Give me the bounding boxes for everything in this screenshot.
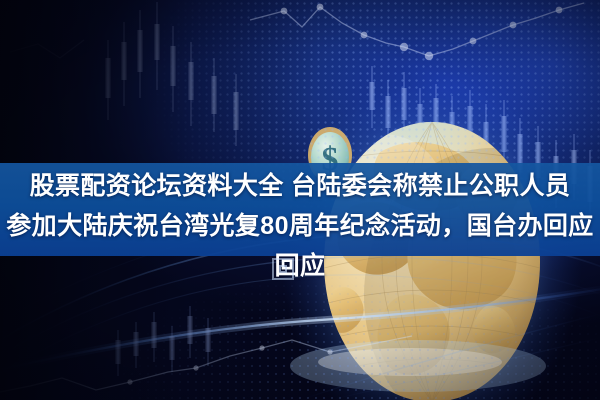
headline-banner — [0, 163, 600, 256]
square-logo-watermark — [272, 258, 294, 280]
news-banner-image: $ 股票配资论坛资料大全 台陆委会称禁止公职人员 参加大陆庆祝台湾光复80周年纪… — [0, 0, 600, 400]
watermark-inner-square — [279, 265, 287, 273]
